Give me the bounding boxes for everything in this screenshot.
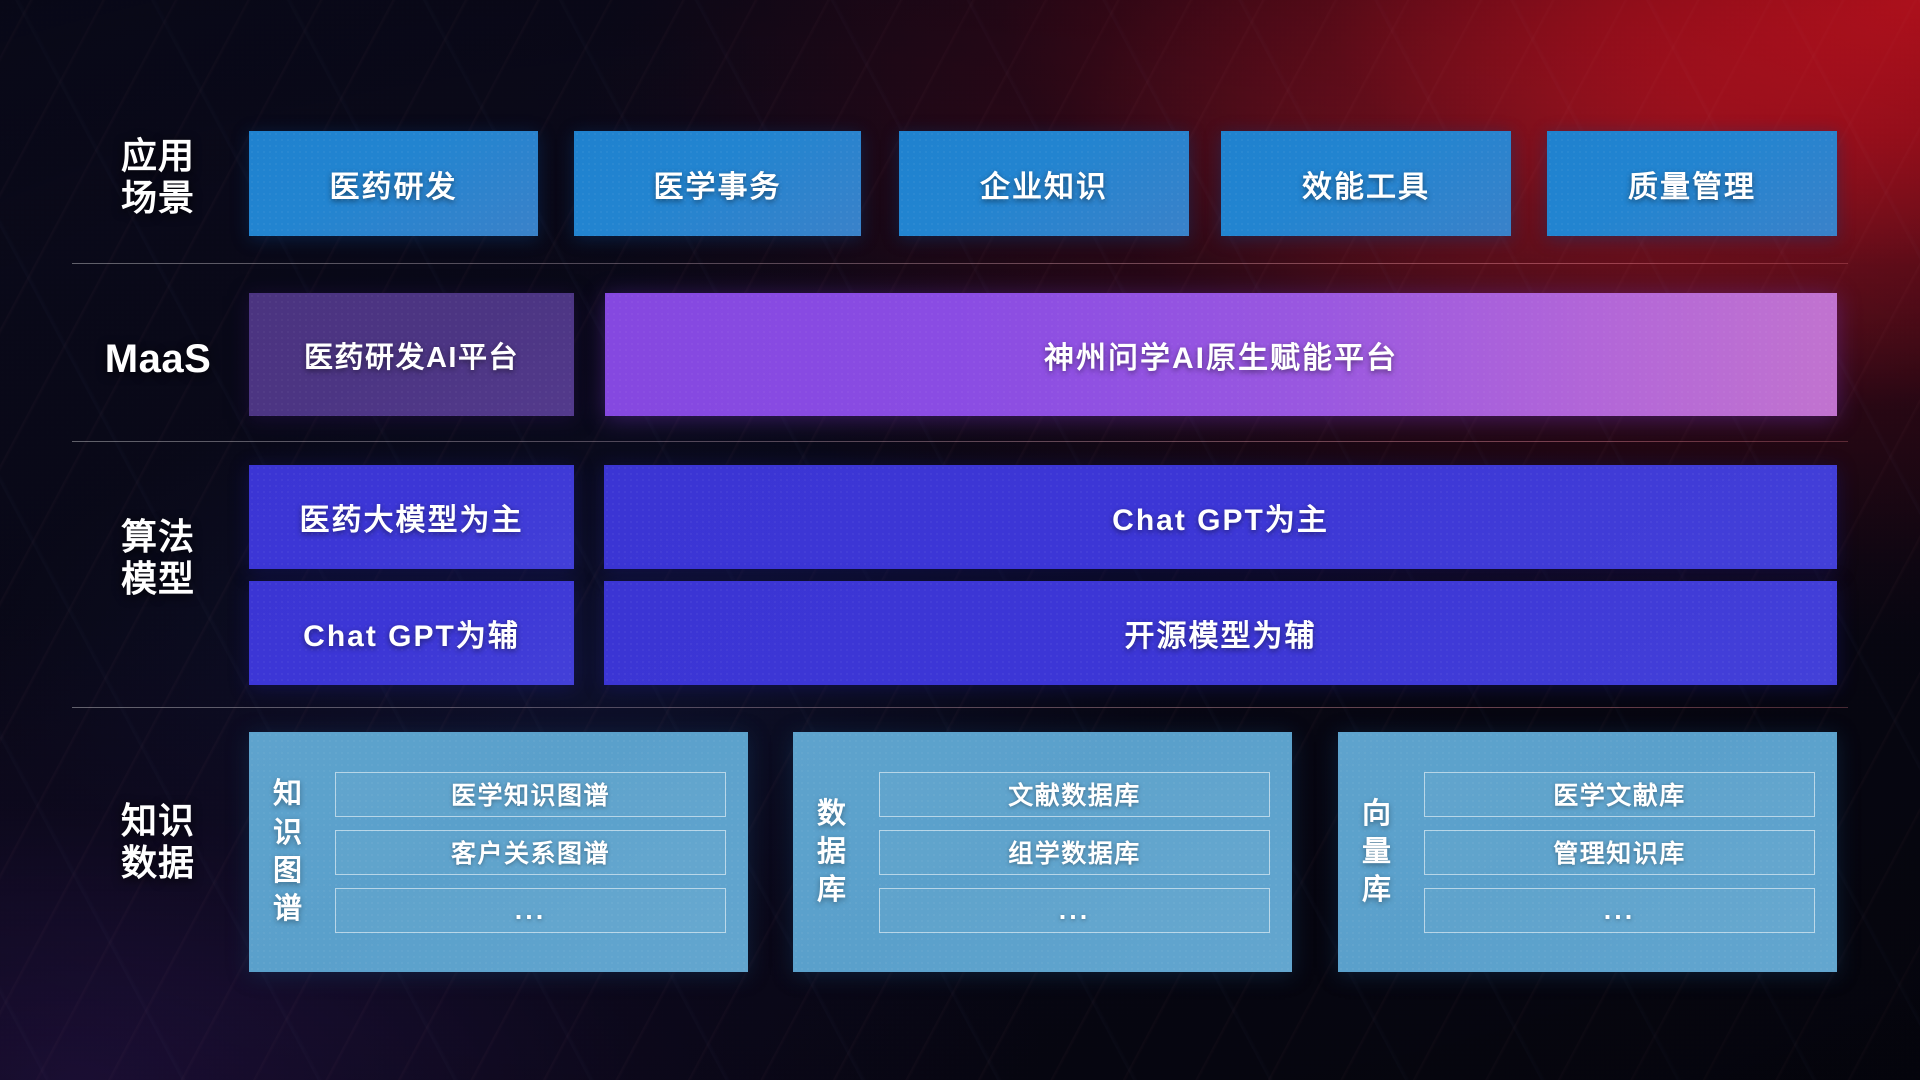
maas-tile-label: 神州问学AI原生赋能平台 (1044, 333, 1398, 377)
model-tile-label: 开源模型为辅 (1125, 611, 1317, 655)
knowledge-item-more[interactable]: ... (1424, 888, 1815, 933)
knowledge-group-title-text: 数据库 (817, 795, 847, 910)
maas-tile-label: 医药研发AI平台 (304, 334, 519, 376)
knowledge-group-vector-store[interactable]: 向量库 医学文献库 管理知识库 ... (1338, 732, 1837, 972)
model-tile-label: 医药大模型为主 (300, 495, 524, 539)
slide-canvas: 应用 场景 医药研发 医学事务 企业知识 效能工具 质量管理 MaaS 医药研发… (0, 0, 1920, 1080)
knowledge-item[interactable]: 医学文献库 (1424, 772, 1815, 817)
scenario-tile-medical-affairs[interactable]: 医学事务 (574, 131, 861, 236)
knowledge-item-more[interactable]: ... (335, 888, 726, 933)
scenario-tile-label: 质量管理 (1628, 162, 1756, 206)
scenario-tile-label: 企业知识 (980, 162, 1108, 206)
knowledge-group-title: 数据库 (793, 732, 871, 972)
divider-after-maas (72, 441, 1848, 442)
knowledge-group-item-list: 医学知识图谱 客户关系图谱 ... (327, 732, 748, 972)
scenario-tile-label: 效能工具 (1302, 162, 1430, 206)
model-tile-chatgpt-primary[interactable]: Chat GPT为主 (604, 465, 1837, 569)
knowledge-group-title-text: 知识图谱 (273, 775, 303, 928)
knowledge-group-title: 向量库 (1338, 732, 1416, 972)
knowledge-item[interactable]: 文献数据库 (879, 772, 1270, 817)
model-tile-label: Chat GPT为主 (1112, 495, 1329, 539)
scenario-tile-label: 医药研发 (330, 162, 458, 206)
model-tile-label: Chat GPT为辅 (303, 611, 520, 655)
layer-label-application-scenarios: 应用 场景 (72, 135, 244, 220)
model-tile-opensource-secondary[interactable]: 开源模型为辅 (604, 581, 1837, 685)
divider-after-algorithm-models (72, 707, 1848, 708)
model-tile-chatgpt-secondary[interactable]: Chat GPT为辅 (249, 581, 574, 685)
divider-after-application-scenarios (72, 263, 1848, 264)
scenario-tile-medicine-rd[interactable]: 医药研发 (249, 131, 538, 236)
maas-tile-medicine-rd-ai-platform[interactable]: 医药研发AI平台 (249, 293, 574, 416)
layer-label-maas: MaaS (72, 336, 244, 383)
knowledge-group-title: 知识图谱 (249, 732, 327, 972)
maas-tile-shenzhou-wenxue-platform[interactable]: 神州问学AI原生赋能平台 (605, 293, 1837, 416)
knowledge-group-item-list: 文献数据库 组学数据库 ... (871, 732, 1292, 972)
layer-label-knowledge-data: 知识 数据 (72, 800, 244, 885)
architecture-diagram: 应用 场景 医药研发 医学事务 企业知识 效能工具 质量管理 MaaS 医药研发… (0, 0, 1920, 1080)
scenario-tile-label: 医学事务 (654, 162, 782, 206)
scenario-tile-enterprise-knowledge[interactable]: 企业知识 (899, 131, 1189, 236)
knowledge-item[interactable]: 医学知识图谱 (335, 772, 726, 817)
knowledge-item[interactable]: 管理知识库 (1424, 830, 1815, 875)
model-tile-pharma-llm-primary[interactable]: 医药大模型为主 (249, 465, 574, 569)
scenario-tile-quality-management[interactable]: 质量管理 (1547, 131, 1837, 236)
knowledge-item-more[interactable]: ... (879, 888, 1270, 933)
knowledge-item[interactable]: 客户关系图谱 (335, 830, 726, 875)
knowledge-group-item-list: 医学文献库 管理知识库 ... (1416, 732, 1837, 972)
knowledge-group-knowledge-graph[interactable]: 知识图谱 医学知识图谱 客户关系图谱 ... (249, 732, 748, 972)
knowledge-group-title-text: 向量库 (1362, 795, 1392, 910)
layer-label-algorithm-models: 算法 模型 (72, 516, 244, 601)
knowledge-group-database[interactable]: 数据库 文献数据库 组学数据库 ... (793, 732, 1292, 972)
scenario-tile-efficiency-tools[interactable]: 效能工具 (1221, 131, 1511, 236)
knowledge-item[interactable]: 组学数据库 (879, 830, 1270, 875)
